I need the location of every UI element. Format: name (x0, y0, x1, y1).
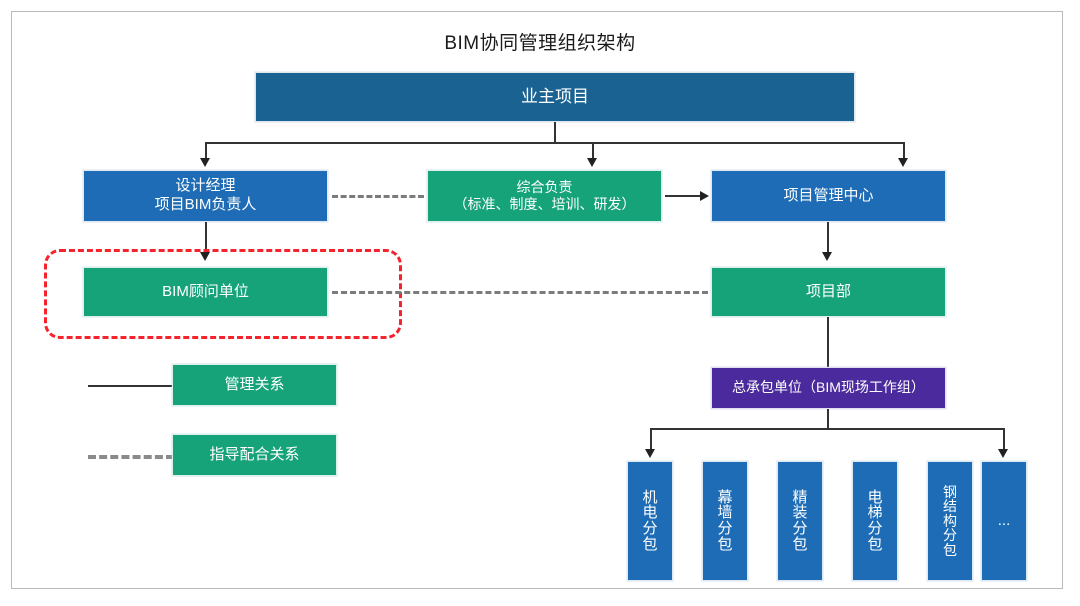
subcontractor-5-char-0: ... (998, 513, 1011, 529)
node-subcontractor-0[interactable]: 机 电 分 包 (627, 461, 673, 581)
subcontractor-4-char-3: 分 (943, 528, 957, 543)
node-project-management-center[interactable]: 项目管理中心 (711, 170, 946, 222)
arrow-right-project-mgmt-center-icon (700, 191, 709, 201)
subcontractor-1-char-1: 墙 (717, 505, 732, 521)
node-general-responsible[interactable]: 综合负责 （标准、制度、培训、研发） (427, 170, 662, 222)
subcontractor-2-char-1: 装 (792, 505, 807, 521)
connector-owner-trunk (554, 122, 556, 143)
legend-item-management-relation[interactable]: 管理关系 (172, 364, 337, 406)
subcontractor-3-char-1: 梯 (867, 505, 882, 521)
node-general-responsible-line1: 综合负责 (517, 179, 573, 197)
subcontractor-4-char-0: 钢 (943, 485, 957, 500)
connector-subcontractor-bus (650, 428, 1005, 430)
subcontractor-4-char-2: 构 (943, 514, 957, 529)
node-subcontractor-1[interactable]: 幕 墙 分 包 (702, 461, 748, 581)
connector-dashed-consultant-to-project-dept (332, 291, 708, 294)
subcontractor-1-char-0: 幕 (717, 490, 732, 506)
page-title: BIM协同管理组织架构 (0, 28, 1080, 55)
node-subcontractor-2[interactable]: 精 装 分 包 (777, 461, 823, 581)
node-subcontractor-4[interactable]: 钢 结 构 分 包 (927, 461, 973, 581)
arrow-down-subcontractor-first-icon (645, 449, 655, 458)
connector-dashed-design-to-general (332, 195, 424, 198)
legend-item-guidance-relation[interactable]: 指导配合关系 (172, 434, 337, 476)
subcontractor-2-char-3: 包 (792, 537, 807, 553)
arrow-down-general-responsible-icon (587, 158, 597, 167)
subcontractor-1-char-3: 包 (717, 537, 732, 553)
connector-general-to-center (665, 195, 701, 197)
arrow-down-project-dept-icon (822, 252, 832, 261)
arrow-down-design-manager-icon (200, 158, 210, 167)
subcontractor-4-char-4: 包 (943, 543, 957, 558)
node-design-manager-line2: 项目BIM负责人 (155, 196, 257, 215)
node-design-manager[interactable]: 设计经理 项目BIM负责人 (83, 170, 328, 222)
node-project-department[interactable]: 项目部 (711, 267, 946, 317)
subcontractor-2-char-0: 精 (792, 490, 807, 506)
node-bim-consultant[interactable]: BIM顾问单位 (83, 267, 328, 317)
connector-level1-bus (205, 142, 905, 144)
subcontractor-2-char-2: 分 (792, 521, 807, 537)
legend-solid-line (88, 385, 176, 387)
subcontractor-3-char-0: 电 (867, 490, 882, 506)
connector-contractor-trunk (827, 409, 829, 429)
node-general-contractor[interactable]: 总承包单位（BIM现场工作组） (711, 367, 946, 409)
subcontractor-0-char-1: 电 (642, 505, 657, 521)
node-design-manager-line1: 设计经理 (175, 177, 235, 196)
subcontractor-4-char-1: 结 (943, 499, 957, 514)
arrow-down-subcontractor-last-icon (998, 449, 1008, 458)
subcontractor-3-char-2: 分 (867, 521, 882, 537)
node-owner-project[interactable]: 业主项目 (255, 72, 855, 122)
subcontractor-0-char-0: 机 (642, 490, 657, 506)
connector-project-dept-to-contractor (827, 317, 829, 367)
subcontractor-0-char-3: 包 (642, 537, 657, 553)
diagram-canvas: BIM协同管理组织架构 业主项目 设计经理 项目BIM负责人 综合负责 （标准、… (0, 0, 1080, 606)
arrow-down-project-mgmt-center-icon (898, 158, 908, 167)
subcontractor-1-char-2: 分 (717, 521, 732, 537)
node-general-responsible-line2: （标准、制度、培训、研发） (454, 196, 636, 214)
legend-dashed-line (88, 455, 174, 459)
node-subcontractor-3[interactable]: 电 梯 分 包 (852, 461, 898, 581)
subcontractor-0-char-2: 分 (642, 521, 657, 537)
node-subcontractor-5[interactable]: ... (981, 461, 1027, 581)
subcontractor-3-char-3: 包 (867, 537, 882, 553)
